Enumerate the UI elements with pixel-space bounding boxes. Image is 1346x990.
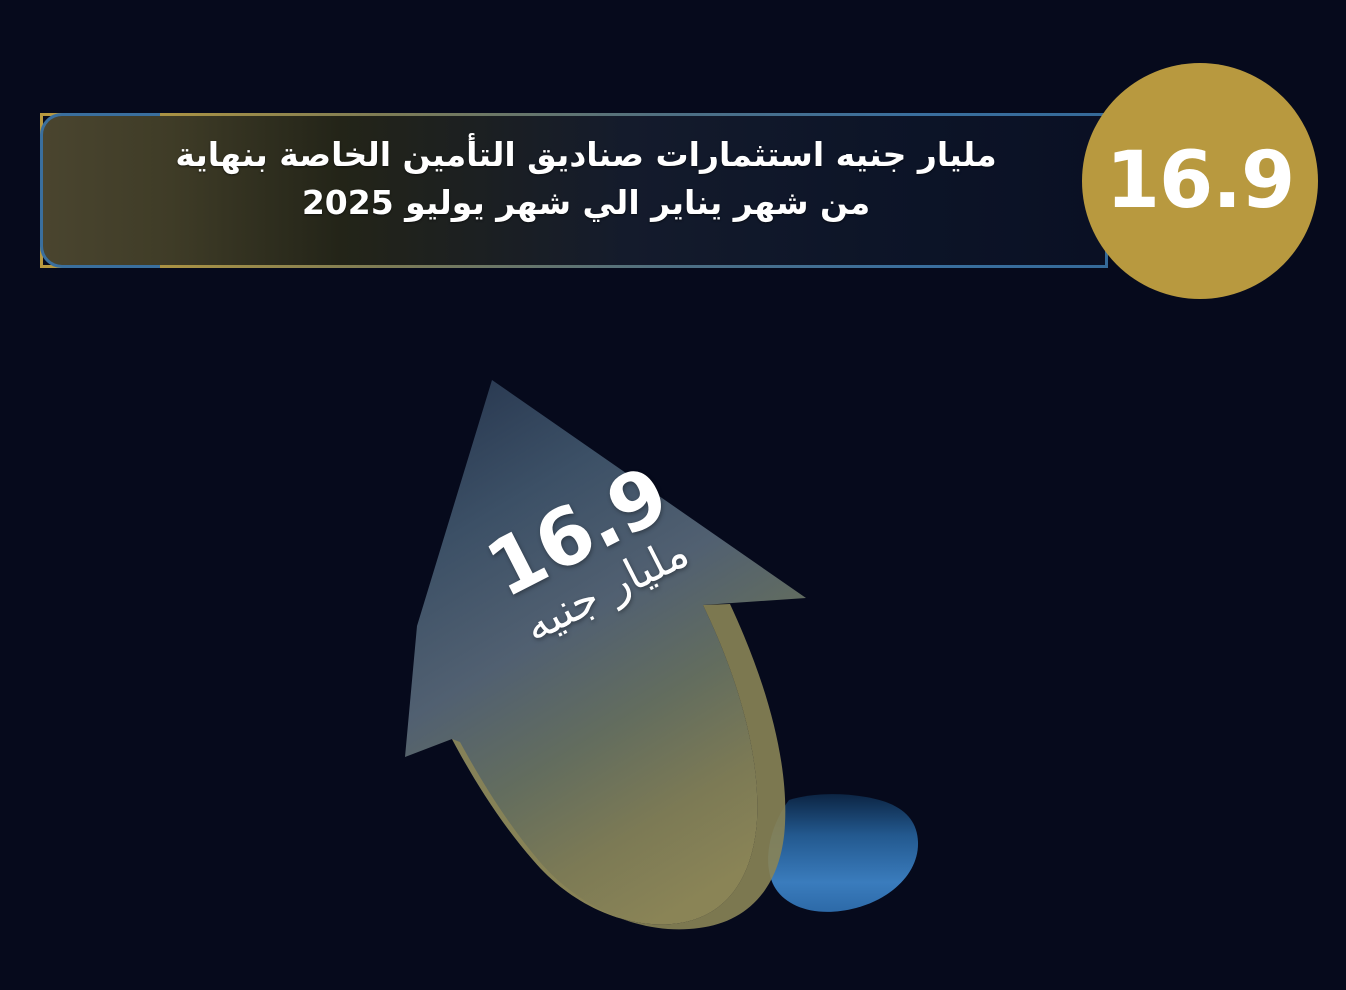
arrow-value-text: 16.9 bbox=[413, 424, 742, 642]
arrow-label-group: 16.9 مليار جنيه bbox=[413, 424, 765, 687]
arrow-tail-fold bbox=[768, 794, 918, 912]
banner-text-block: مليار جنيه استثمارات صناديق التأمين الخا… bbox=[106, 131, 1066, 227]
arrow-body-shape bbox=[405, 380, 806, 924]
banner-line-2: من شهر يناير الي شهر يوليو 2025 bbox=[106, 179, 1066, 227]
value-badge-number: 16.9 bbox=[1106, 142, 1294, 220]
arrow-unit-text: مليار جنيه bbox=[449, 494, 765, 687]
headline-banner: مليار جنيه استثمارات صناديق التأمين الخا… bbox=[40, 113, 1108, 268]
value-badge-circle: 16.9 bbox=[1082, 63, 1318, 299]
infographic-canvas: مليار جنيه استثمارات صناديق التأمين الخا… bbox=[0, 0, 1346, 990]
arrow-tail-rim bbox=[452, 604, 785, 929]
banner-line-1: مليار جنيه استثمارات صناديق التأمين الخا… bbox=[106, 131, 1066, 179]
